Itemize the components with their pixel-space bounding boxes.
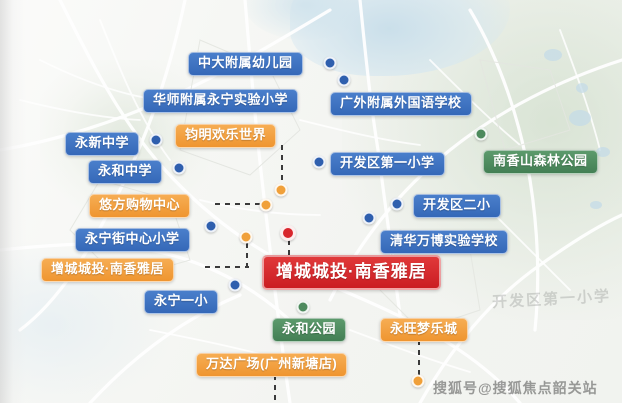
poi-dot-yonghe-park[interactable] [297, 301, 310, 314]
watermark: 搜狐号@搜狐焦点韶关站 [433, 378, 598, 398]
poi-label-yongning-no1-primary[interactable]: 永宁一小 [144, 290, 218, 314]
watermark-text: 搜狐号@搜狐焦点韶关站 [433, 378, 598, 398]
poi-label-yongwang-dreamland[interactable]: 永旺梦乐城 [380, 318, 468, 342]
poi-dot-zengcheng-nanxiang-alt[interactable] [240, 231, 253, 244]
connector-wanda-vertical [274, 375, 276, 403]
connector-yongwang-vertical [418, 340, 420, 376]
map-canvas[interactable]: 开发区第一小学 中大附属幼儿园 华师附属永宁实验小学 广外附属外国语学校 钧明欢… [0, 0, 622, 403]
poi-dot-youfang-shopping[interactable] [260, 199, 273, 212]
poi-label-yongxin-middle[interactable]: 永新中学 [65, 132, 139, 156]
poi-dot-yongxin-middle[interactable] [150, 134, 163, 147]
connector-nanxiang-alt-horizontal [205, 266, 249, 268]
poi-label-qinghua-wanbo-school[interactable]: 清华万博实验学校 [380, 230, 508, 254]
poi-dot-kaifaqu-no2-primary[interactable] [391, 198, 404, 211]
poi-label-zengcheng-nanxiang[interactable]: 增城城投·南香雅居 [262, 255, 441, 290]
poi-label-kaifaqu-no2-primary[interactable]: 开发区二小 [413, 194, 501, 218]
connector-junming-vertical [281, 145, 283, 185]
map-left-edge-shadow [0, 0, 26, 403]
poi-label-guangwai-foreign-lang[interactable]: 广外附属外国语学校 [330, 92, 472, 116]
poi-dot-nanxiangshan-park[interactable] [475, 128, 488, 141]
poi-label-kaifaqu-no1-primary[interactable]: 开发区第一小学 [330, 152, 445, 176]
poi-dot-yongwang-dreamland[interactable] [412, 375, 425, 388]
poi-dot-zhongda-kindergarten[interactable] [324, 57, 337, 70]
poi-label-nanxiangshan-park[interactable]: 南香山森林公园 [483, 150, 598, 174]
poi-label-zhongda-kindergarten[interactable]: 中大附属幼儿园 [188, 52, 303, 76]
poi-label-wanda-plaza[interactable]: 万达广场(广州新塘店) [196, 353, 347, 377]
poi-dot-yongning-no1-primary[interactable] [229, 279, 242, 292]
poi-dot-junming-happy-world[interactable] [275, 184, 288, 197]
poi-label-yongningjie-primary[interactable]: 永宁街中心小学 [75, 228, 190, 252]
poi-dot-yonghe-middle[interactable] [173, 162, 186, 175]
poi-dot-huashi-yongning-primary[interactable] [338, 74, 351, 87]
poi-label-huashi-yongning-primary[interactable]: 华师附属永宁实验小学 [143, 89, 298, 113]
poi-label-youfang-shopping[interactable]: 悠方购物中心 [89, 194, 190, 218]
poi-label-junming-happy-world[interactable]: 钧明欢乐世界 [175, 124, 276, 148]
poi-dot-qinghua-wanbo-school[interactable] [363, 212, 376, 225]
poi-dot-kaifaqu-no1-primary[interactable] [313, 156, 326, 169]
poi-label-zengcheng-nanxiang-alt[interactable]: 增城城投·南香雅居 [41, 258, 174, 282]
poi-dot-yongningjie-primary[interactable] [205, 220, 218, 233]
poi-dot-zengcheng-nanxiang[interactable] [280, 225, 296, 241]
connector-nanxiang-alt-vertical [246, 243, 248, 267]
poi-label-yonghe-park[interactable]: 永和公园 [272, 318, 346, 342]
poi-label-yonghe-middle[interactable]: 永和中学 [88, 160, 162, 184]
